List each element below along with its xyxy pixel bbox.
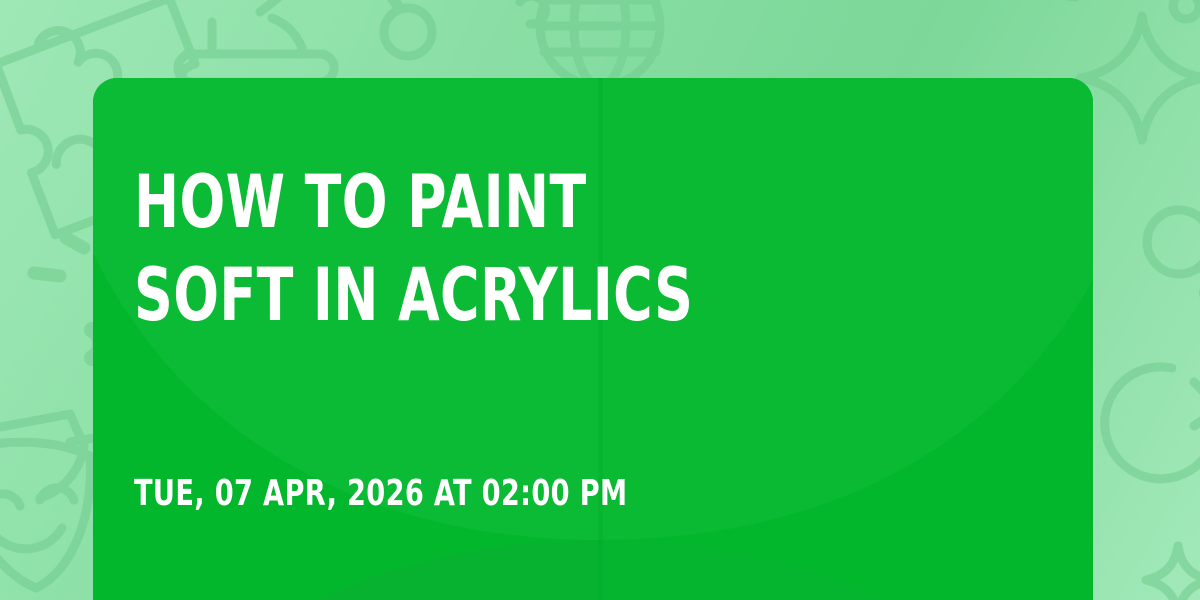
confetti-dash-icon-left (34, 238, 84, 276)
theater-masks-icon (0, 414, 94, 588)
event-title: How to Paint Soft in Acrylics (134, 156, 708, 342)
sparkle-icon-small (1146, 546, 1200, 600)
swirl-icon-bottom-right (1105, 367, 1200, 479)
event-datetime: Tue, 07 Apr, 2026 at 02:00 PM (134, 474, 627, 514)
globe-icon (540, 0, 660, 86)
event-banner: How to Paint Soft in Acrylics Tue, 07 Ap… (0, 0, 1200, 600)
event-card-content: How to Paint Soft in Acrylics Tue, 07 Ap… (134, 78, 1053, 600)
microphone-icon (1134, 185, 1200, 359)
microscope-icon (178, 0, 334, 82)
swirl-icon (520, 0, 545, 24)
sparkle-icon (1080, 16, 1200, 140)
confetti-dash-icon (388, 0, 398, 6)
event-card: How to Paint Soft in Acrylics Tue, 07 Ap… (93, 78, 1093, 600)
ring-icon-small (1173, 0, 1199, 19)
ring-icon (384, 8, 432, 56)
